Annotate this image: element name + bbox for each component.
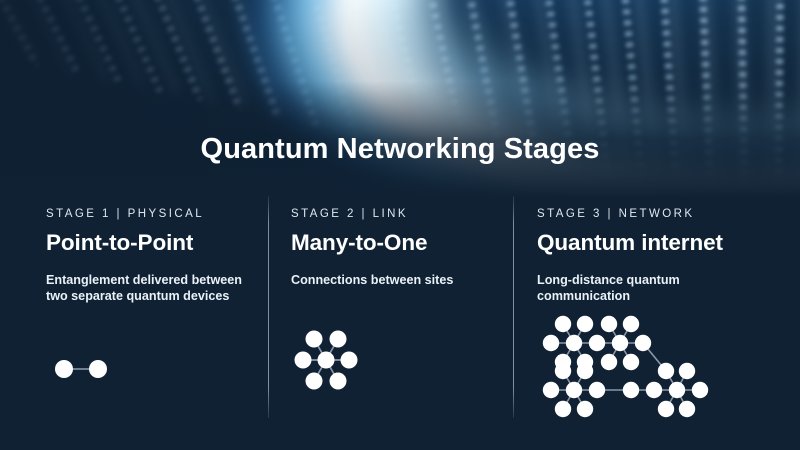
node-dot: [623, 354, 639, 370]
node-dot: [658, 401, 674, 417]
node-dot: [330, 331, 347, 348]
stage-1-headline: Point-to-Point: [46, 230, 254, 256]
node-dot: [306, 331, 323, 348]
node-dot: [341, 352, 358, 369]
slide-content: Quantum Networking Stages STAGE 1 | PHYS…: [0, 0, 800, 450]
stage-columns: STAGE 1 | PHYSICAL Point-to-Point Entang…: [0, 196, 800, 421]
node-dot: [658, 363, 674, 379]
node-dot: [679, 401, 695, 417]
node-dot: [635, 335, 651, 351]
node-dot: [330, 373, 347, 390]
column-divider-1: [268, 196, 269, 418]
node-dot: [692, 382, 708, 398]
node-dot-hub: [318, 352, 335, 369]
node-dot-hub: [566, 382, 582, 398]
point-to-point-diagram: [46, 352, 126, 386]
stage-column-1: STAGE 1 | PHYSICAL Point-to-Point Entang…: [46, 196, 254, 305]
stage-3-body: Long-distance quantum communication: [537, 272, 742, 305]
stage-column-2: STAGE 2 | LINK Many-to-One Connections b…: [291, 196, 499, 288]
node-dot-hub: [669, 382, 685, 398]
node-dot: [543, 382, 559, 398]
many-to-one-diagram: [291, 325, 361, 395]
node-dot: [577, 363, 593, 379]
stage-3-headline: Quantum internet: [537, 230, 772, 256]
stage-1-eyebrow: STAGE 1 | PHYSICAL: [46, 208, 254, 220]
node-dot: [306, 373, 323, 390]
node-dot: [543, 335, 559, 351]
node-dots: [295, 331, 358, 390]
node-dot: [646, 382, 662, 398]
node-dot: [601, 354, 617, 370]
node-dot: [601, 316, 617, 332]
column-divider-2: [513, 196, 514, 418]
stage-2-headline: Many-to-One: [291, 230, 499, 256]
node-dot: [555, 401, 571, 417]
node-dot: [555, 316, 571, 332]
node-dot: [577, 316, 593, 332]
slide-canvas: Quantum Networking Stages STAGE 1 | PHYS…: [0, 0, 800, 450]
stage-2-eyebrow: STAGE 2 | LINK: [291, 208, 499, 220]
node-dot: [623, 382, 639, 398]
node-dot: [623, 316, 639, 332]
stage-column-3: STAGE 3 | NETWORK Quantum internet Long-…: [537, 196, 772, 305]
node-dot: [555, 363, 571, 379]
node-dot: [589, 335, 605, 351]
node-dot: [589, 382, 605, 398]
stage-3-eyebrow: STAGE 3 | NETWORK: [537, 208, 772, 220]
quantum-internet-diagram: [537, 314, 712, 419]
node-dot-hub: [566, 335, 582, 351]
stage-2-body: Connections between sites: [291, 272, 499, 288]
stage-1-body: Entanglement delivered between two separ…: [46, 272, 246, 305]
node-dot: [679, 363, 695, 379]
node-dot: [55, 360, 73, 378]
node-dot: [577, 401, 593, 417]
node-dot: [89, 360, 107, 378]
node-dot-hub: [612, 335, 628, 351]
node-dot: [295, 352, 312, 369]
page-title: Quantum Networking Stages: [0, 133, 800, 166]
